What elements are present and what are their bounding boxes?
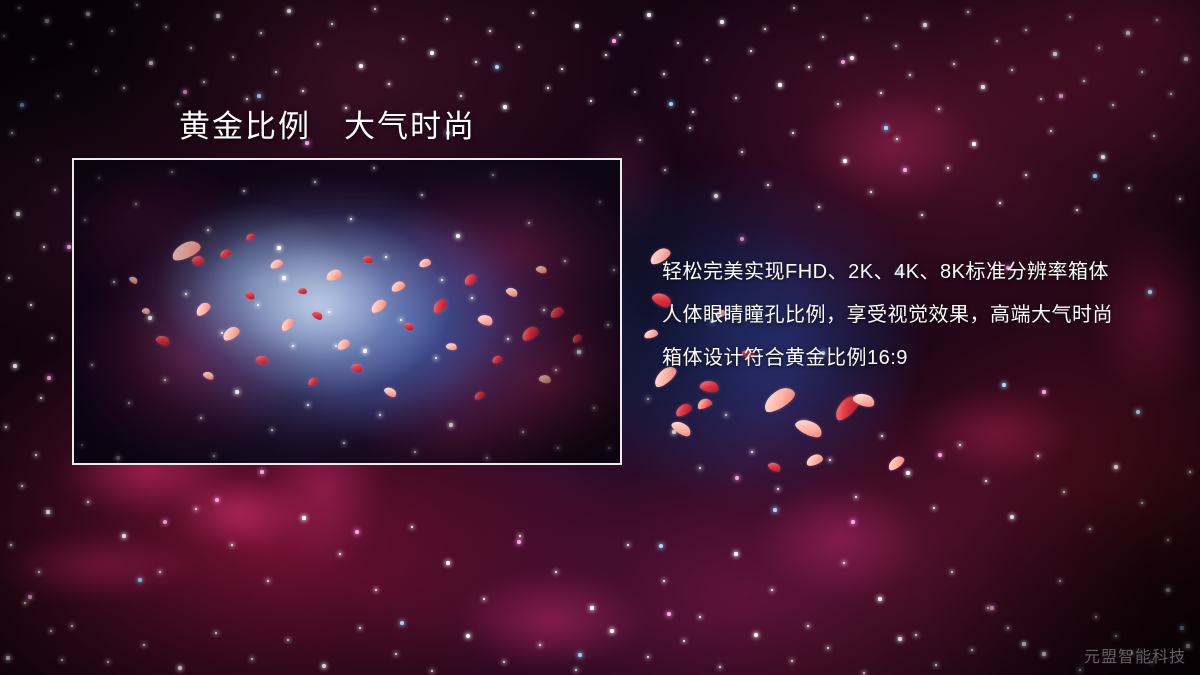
flower-petal bbox=[831, 392, 863, 423]
flower-petal bbox=[643, 329, 658, 340]
flower-petal bbox=[760, 384, 798, 416]
flower-petal bbox=[674, 402, 694, 418]
flower-petal bbox=[670, 418, 694, 439]
description-line-1: 轻松完美实现FHD、2K、4K、8K标准分辨率箱体 bbox=[662, 251, 1162, 294]
description-line-2: 人体眼睛瞳孔比例，享受视觉效果，高端大气时尚 bbox=[662, 294, 1162, 337]
flower-petal bbox=[767, 460, 782, 473]
image-frame bbox=[72, 158, 622, 465]
flower-petal bbox=[852, 391, 877, 410]
frame-vignette bbox=[74, 160, 620, 463]
flower-petal bbox=[805, 453, 824, 468]
company-watermark: 元盟智能科技 bbox=[1084, 643, 1186, 667]
page-title: 黄金比例 大气时尚 bbox=[179, 101, 476, 146]
slide-canvas: 黄金比例 大气时尚 轻松完美实现FHD、2K、4K、8K标准分辨率箱体 人体眼睛… bbox=[0, 0, 1200, 675]
flower-petal bbox=[793, 415, 824, 441]
flower-petal bbox=[699, 379, 720, 395]
flower-petal bbox=[886, 454, 907, 472]
feature-description: 轻松完美实现FHD、2K、4K、8K标准分辨率箱体 人体眼睛瞳孔比例，享受视觉效… bbox=[662, 251, 1162, 380]
description-line-3: 箱体设计符合黄金比例16:9 bbox=[662, 337, 1162, 380]
flower-petal bbox=[696, 397, 713, 411]
